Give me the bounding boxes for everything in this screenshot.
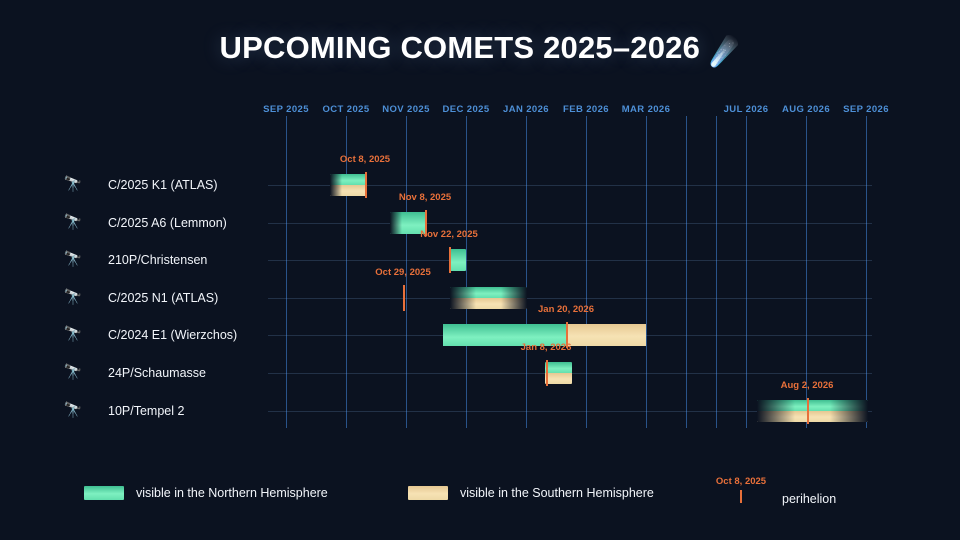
perihelion-marker[interactable] bbox=[449, 247, 451, 273]
comet-row[interactable]: 🔭C/2025 N1 (ATLAS)Oct 29, 2025 bbox=[0, 279, 960, 317]
perihelion-marker[interactable] bbox=[403, 285, 405, 311]
comet-name-label: 210P/Christensen bbox=[108, 250, 207, 270]
comet-name-label: C/2025 K1 (ATLAS) bbox=[108, 175, 218, 195]
row-baseline bbox=[268, 298, 872, 299]
comet-row[interactable]: 🔭10P/Tempel 2Aug 2, 2026 bbox=[0, 392, 960, 430]
legend-item-perihelion: Oct 8, 2025 perihelion bbox=[712, 474, 836, 508]
month-label-feb-2026: FEB 2026 bbox=[563, 104, 609, 115]
perihelion-date-label: Aug 2, 2026 bbox=[781, 380, 834, 391]
comet-row[interactable]: 🔭C/2025 A6 (Lemmon)Nov 8, 2025 bbox=[0, 204, 960, 242]
perihelion-date-label: Nov 8, 2025 bbox=[399, 192, 451, 203]
perihelion-tick-icon bbox=[740, 490, 742, 503]
comet-row[interactable]: 🔭C/2025 K1 (ATLAS)Oct 8, 2025 bbox=[0, 166, 960, 204]
perihelion-date-label: Jan 20, 2026 bbox=[538, 304, 594, 315]
legend-item-northern: visible in the Northern Hemisphere bbox=[84, 482, 328, 504]
month-label-aug-2026: AUG 2026 bbox=[782, 104, 830, 115]
binoculars-icon: 🔭 bbox=[62, 364, 84, 382]
binoculars-icon: 🔭 bbox=[62, 214, 84, 232]
legend-label-perihelion: perihelion bbox=[782, 492, 836, 508]
legend-item-southern: visible in the Southern Hemisphere bbox=[408, 482, 654, 504]
visibility-bar-southern bbox=[330, 185, 366, 196]
month-label-jan-2026: JAN 2026 bbox=[503, 104, 549, 115]
comet-row[interactable]: 🔭C/2024 E1 (Wierzchos)Jan 20, 2026 bbox=[0, 316, 960, 354]
comet-timeline-infographic: UPCOMING COMETS 2025–2026☄️ SEP 2025OCT … bbox=[0, 0, 960, 540]
visibility-bar-northern bbox=[757, 400, 868, 411]
visibility-bar-northern bbox=[330, 174, 366, 185]
month-label-sep-2025: SEP 2025 bbox=[263, 104, 309, 115]
binoculars-icon: 🔭 bbox=[62, 402, 84, 420]
row-baseline bbox=[268, 223, 872, 224]
month-label-nov-2025: NOV 2025 bbox=[382, 104, 430, 115]
timeline-plot: SEP 2025OCT 2025NOV 2025DEC 2025JAN 2026… bbox=[0, 0, 960, 540]
month-label-oct-2025: OCT 2025 bbox=[322, 104, 369, 115]
telescope-icon: 🔭 bbox=[62, 289, 84, 307]
visibility-bar-northern bbox=[450, 287, 527, 298]
month-label-dec-2025: DEC 2025 bbox=[442, 104, 489, 115]
visibility-bar-southern[interactable] bbox=[566, 324, 646, 346]
perihelion-date-label: Nov 22, 2025 bbox=[420, 229, 478, 240]
legend-label-southern: visible in the Southern Hemisphere bbox=[460, 486, 654, 500]
northern-swatch bbox=[84, 486, 124, 500]
binoculars-icon: 🔭 bbox=[62, 251, 84, 269]
comet-name-label: 24P/Schaumasse bbox=[108, 363, 206, 383]
perihelion-marker[interactable] bbox=[807, 398, 809, 424]
perihelion-date-label: Oct 8, 2025 bbox=[340, 154, 390, 165]
comet-name-label: C/2024 E1 (Wierzchos) bbox=[108, 325, 237, 345]
visibility-bar[interactable] bbox=[449, 249, 466, 271]
visibility-bar-southern bbox=[450, 298, 527, 309]
visibility-bar[interactable] bbox=[545, 362, 572, 384]
month-label-jul-2026: JUL 2026 bbox=[724, 104, 769, 115]
comet-row[interactable]: 🔭210P/ChristensenNov 22, 2025 bbox=[0, 241, 960, 279]
visibility-bar-northern bbox=[449, 249, 466, 271]
visibility-bar-southern bbox=[757, 411, 868, 422]
binoculars-icon: 🔭 bbox=[62, 176, 84, 194]
month-label-mar-2026: MAR 2026 bbox=[622, 104, 671, 115]
visibility-bar[interactable] bbox=[757, 400, 868, 422]
legend: visible in the Northern Hemisphere visib… bbox=[0, 474, 960, 514]
perihelion-marker[interactable] bbox=[546, 360, 548, 386]
row-baseline bbox=[268, 260, 872, 261]
perihelion-date-label: Jan 8, 2026 bbox=[521, 342, 572, 353]
month-label-sep-2026: SEP 2026 bbox=[843, 104, 889, 115]
southern-swatch bbox=[408, 486, 448, 500]
comet-name-label: 10P/Tempel 2 bbox=[108, 401, 184, 421]
perihelion-sample-date: Oct 8, 2025 bbox=[716, 476, 766, 487]
visibility-bar-northern bbox=[545, 362, 572, 373]
perihelion-date-label: Oct 29, 2025 bbox=[375, 267, 430, 278]
binoculars-icon: 🔭 bbox=[62, 326, 84, 344]
perihelion-marker-sample: Oct 8, 2025 bbox=[712, 476, 770, 508]
visibility-bar[interactable] bbox=[450, 287, 527, 309]
legend-label-northern: visible in the Northern Hemisphere bbox=[136, 486, 328, 500]
perihelion-marker[interactable] bbox=[365, 172, 367, 198]
comet-name-label: C/2025 N1 (ATLAS) bbox=[108, 288, 218, 308]
visibility-bar-southern bbox=[545, 373, 572, 384]
visibility-bar[interactable] bbox=[330, 174, 366, 196]
comet-name-label: C/2025 A6 (Lemmon) bbox=[108, 213, 227, 233]
